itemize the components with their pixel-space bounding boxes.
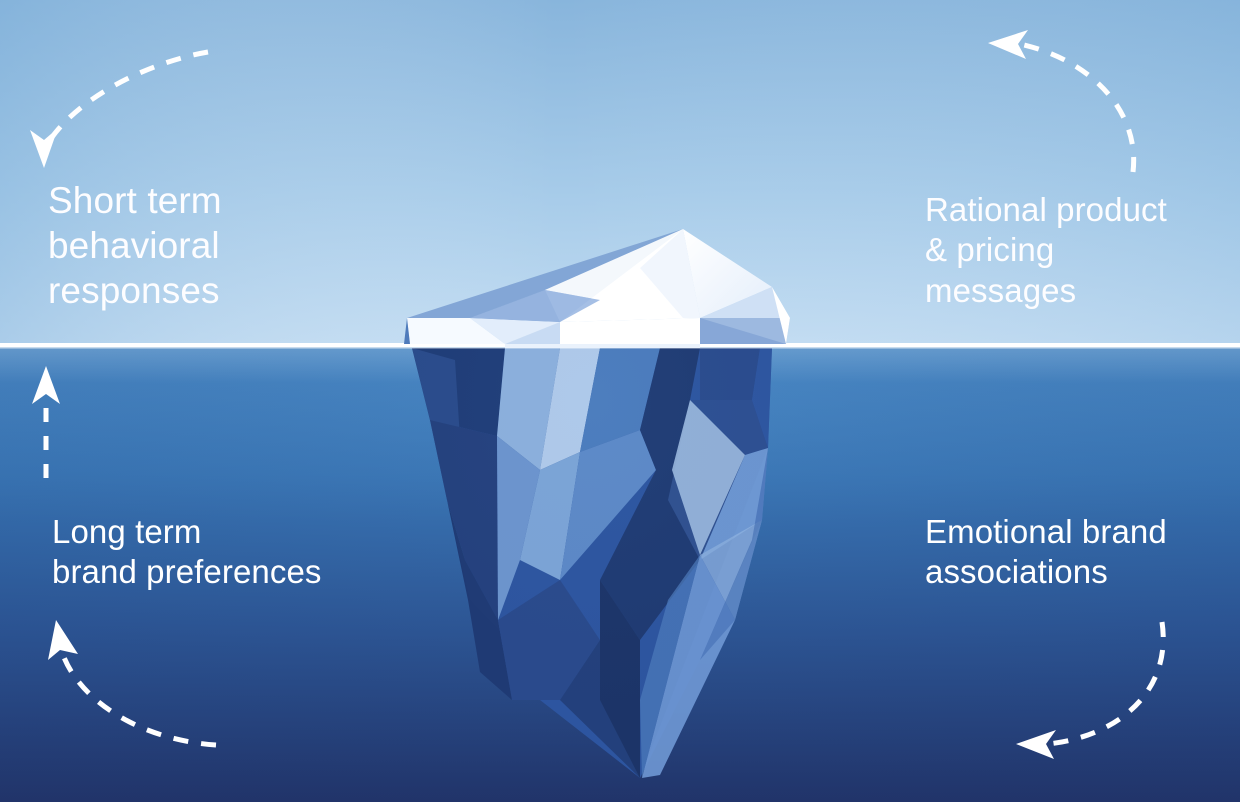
iceberg-diagram-canvas: Short term behavioral responses Rational… — [0, 0, 1240, 802]
scene-illustration — [0, 0, 1240, 802]
label-rational-product-pricing-messages: Rational product & pricing messages — [925, 190, 1167, 311]
label-emotional-brand-associations: Emotional brand associations — [925, 512, 1167, 593]
label-long-term-brand-preferences: Long term brand preferences — [52, 512, 322, 593]
label-short-term-behavioral-responses: Short term behavioral responses — [48, 178, 222, 313]
